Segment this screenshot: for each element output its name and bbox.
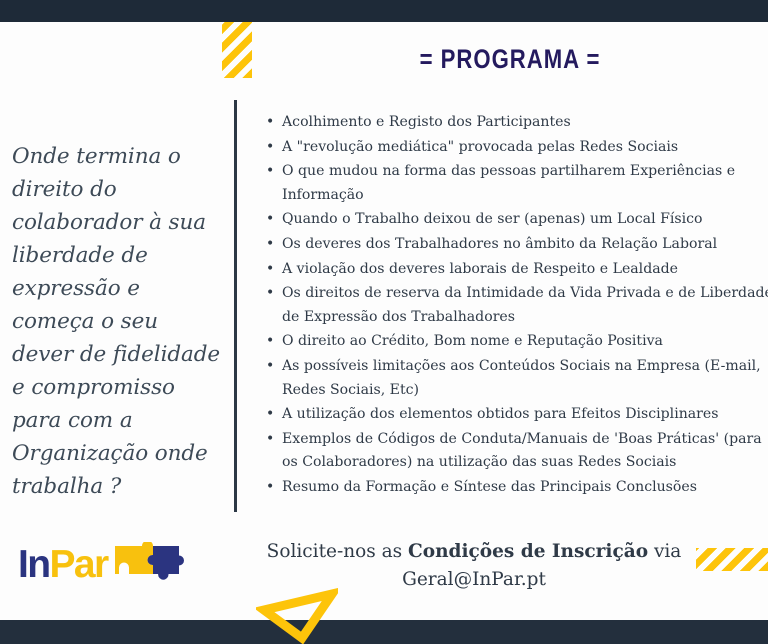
logo-wordmark: InPar xyxy=(18,545,108,584)
list-item: O que mudou na forma das pessoas partilh… xyxy=(282,160,768,207)
list-item: Resumo da Formação e Síntese das Princip… xyxy=(282,476,768,500)
list-item: O direito ao Crédito, Bom nome e Reputaç… xyxy=(282,330,768,354)
footer-email: Geral@InPar.pt xyxy=(402,569,546,590)
footer-emphasis: Condições de Inscrição xyxy=(408,541,648,562)
yellow-stripes-bottom-right-icon xyxy=(696,548,768,571)
logo-text-in: In xyxy=(18,543,49,586)
list-item: A violação dos deveres laborais de Respe… xyxy=(282,258,768,282)
list-item: Quando o Trabalho deixou de ser (apenas)… xyxy=(282,208,768,232)
puzzle-pieces-icon xyxy=(115,542,185,588)
vertical-divider xyxy=(234,100,237,512)
logo-text-par: Par xyxy=(49,543,107,586)
top-bar xyxy=(0,0,768,22)
inpar-logo: InPar xyxy=(18,538,230,590)
program-list: Acolhimento e Registo dos Participantes … xyxy=(262,111,768,501)
list-item: Os deveres dos Trabalhadores no âmbito d… xyxy=(282,233,768,257)
list-item: Exemplos de Códigos de Conduta/Manuais d… xyxy=(282,428,768,475)
list-item: As possíveis limitações aos Conteúdos So… xyxy=(282,355,768,402)
page-title: = PROGRAMA = xyxy=(298,44,721,75)
footer-invite: Solicite-nos as Condições de Inscrição v… xyxy=(248,538,700,594)
list-item: A utilização dos elementos obtidos para … xyxy=(282,403,768,427)
list-item: Acolhimento e Registo dos Participantes xyxy=(282,111,768,135)
poster-canvas: = PROGRAMA = Onde termina o direito do c… xyxy=(0,0,768,644)
footer-lead: Solicite-nos as xyxy=(267,541,408,562)
yellow-triangle-icon xyxy=(256,588,338,644)
footer-trail: via xyxy=(648,541,681,562)
list-item: Os direitos de reserva da Intimidade da … xyxy=(282,282,768,329)
question-text: Onde termina o direito do colaborador à … xyxy=(12,140,224,503)
bottom-bar xyxy=(0,620,768,644)
list-item: A "revolução mediática" provocada pelas … xyxy=(282,136,768,160)
